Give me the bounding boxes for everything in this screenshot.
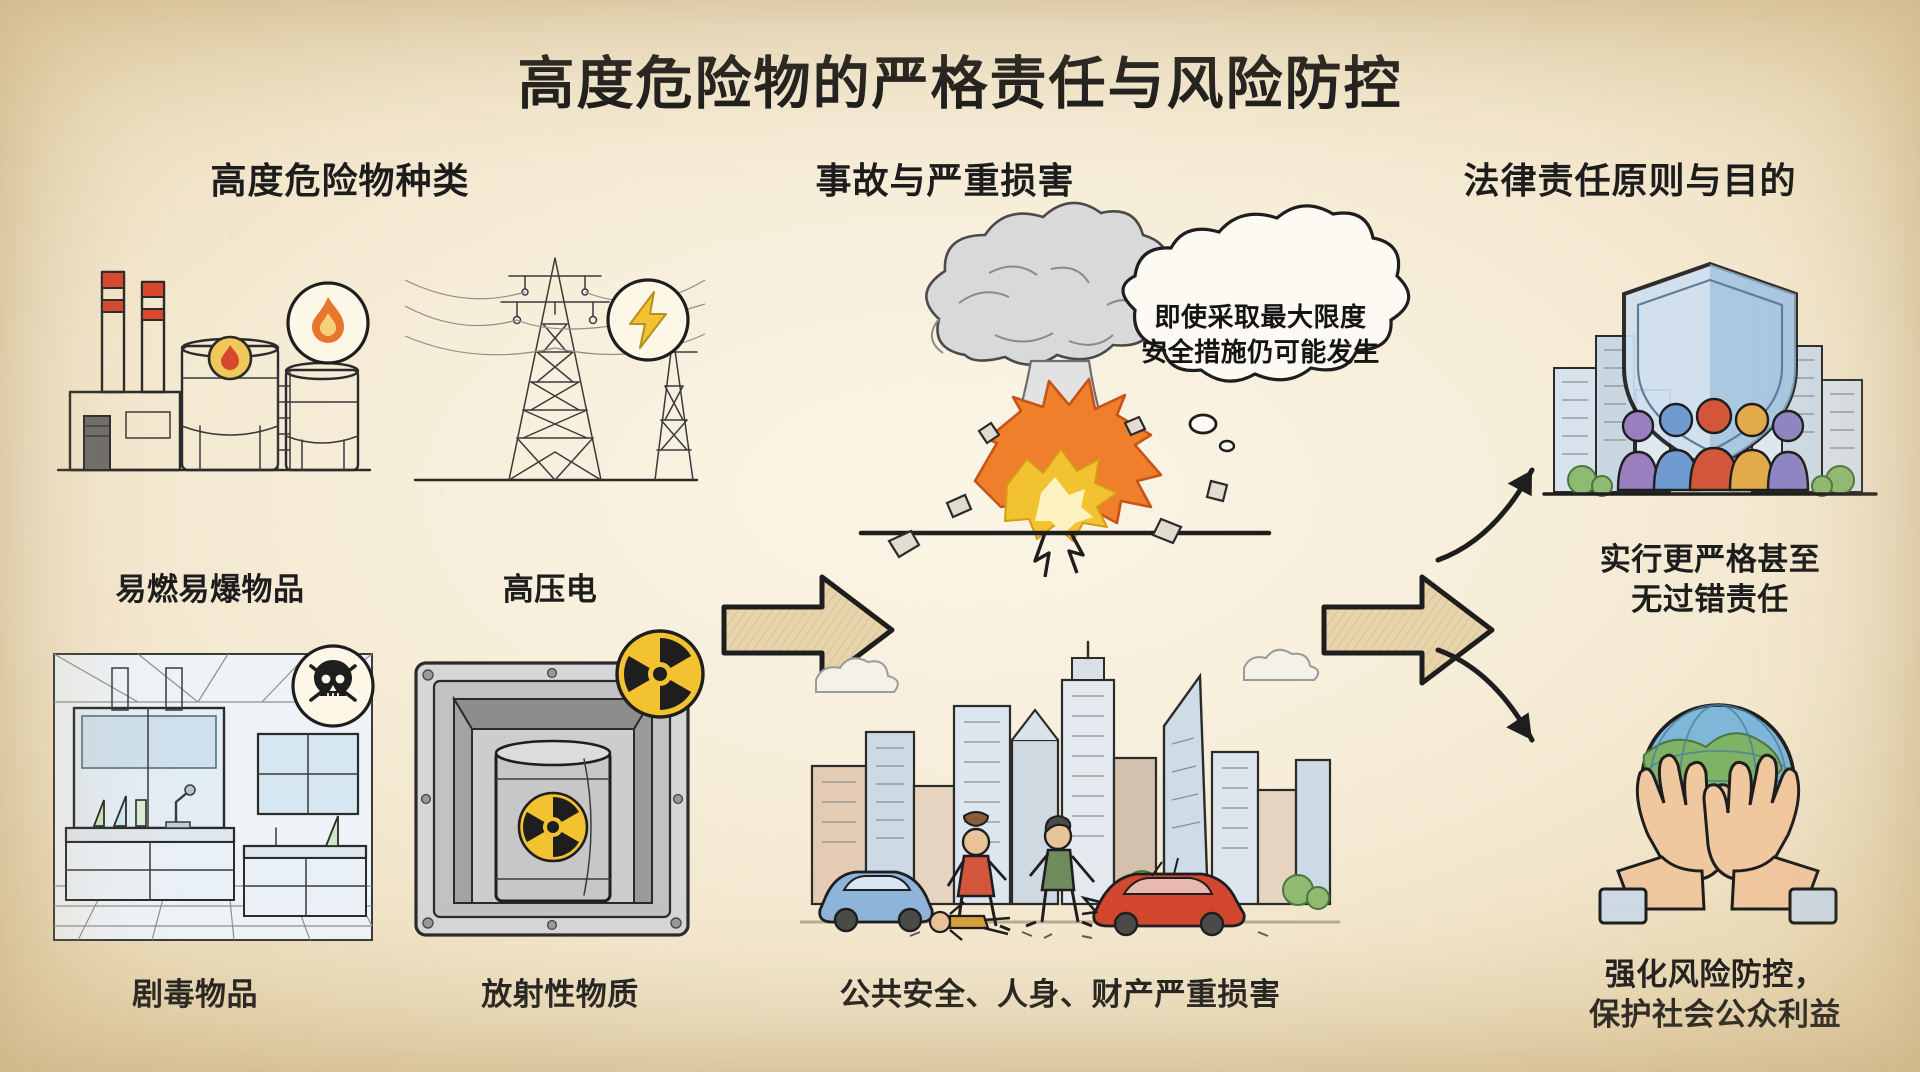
flame-icon <box>280 275 376 371</box>
skull-icon <box>285 638 381 734</box>
section-heading-hazard-types: 高度危险物种类 <box>115 152 565 204</box>
section-heading-legal-principle: 法律责任原则与目的 <box>1410 152 1850 204</box>
outcome-caption-public-interest: 强化风险防控， 保护社会公众利益 <box>1520 955 1910 1034</box>
city-crash-icon <box>800 640 1340 960</box>
hands-globe-icon <box>1548 675 1888 945</box>
infographic-canvas: 高度危险物的严格责任与风险防控 高度危险物种类 事故与严重损害 法律责任原则与目… <box>0 0 1920 1072</box>
lightning-icon <box>600 272 696 368</box>
curved-arrow-down-right-icon <box>1432 640 1562 770</box>
hazard-caption-toxic: 剧毒物品 <box>30 975 360 1015</box>
radiation-icon <box>608 622 712 726</box>
hazard-caption-flammable: 易燃易爆物品 <box>30 570 390 610</box>
shield-people-icon <box>1540 250 1880 540</box>
hazard-caption-radioactive: 放射性物质 <box>400 975 720 1015</box>
page-title: 高度危险物的严格责任与风险防控 <box>0 38 1920 120</box>
thought-bubble-text: 即使采取最大限度 安全措施仍可能发生 <box>1083 300 1438 370</box>
section-heading-accident: 事故与严重损害 <box>720 152 1170 204</box>
thought-bubble-tail <box>1183 412 1243 458</box>
accident-caption: 公共安全、人身、财产严重损害 <box>790 975 1330 1015</box>
hazard-caption-highvoltage: 高压电 <box>400 570 700 610</box>
outcome-caption-liability: 实行更严格甚至 无过错责任 <box>1530 540 1890 619</box>
